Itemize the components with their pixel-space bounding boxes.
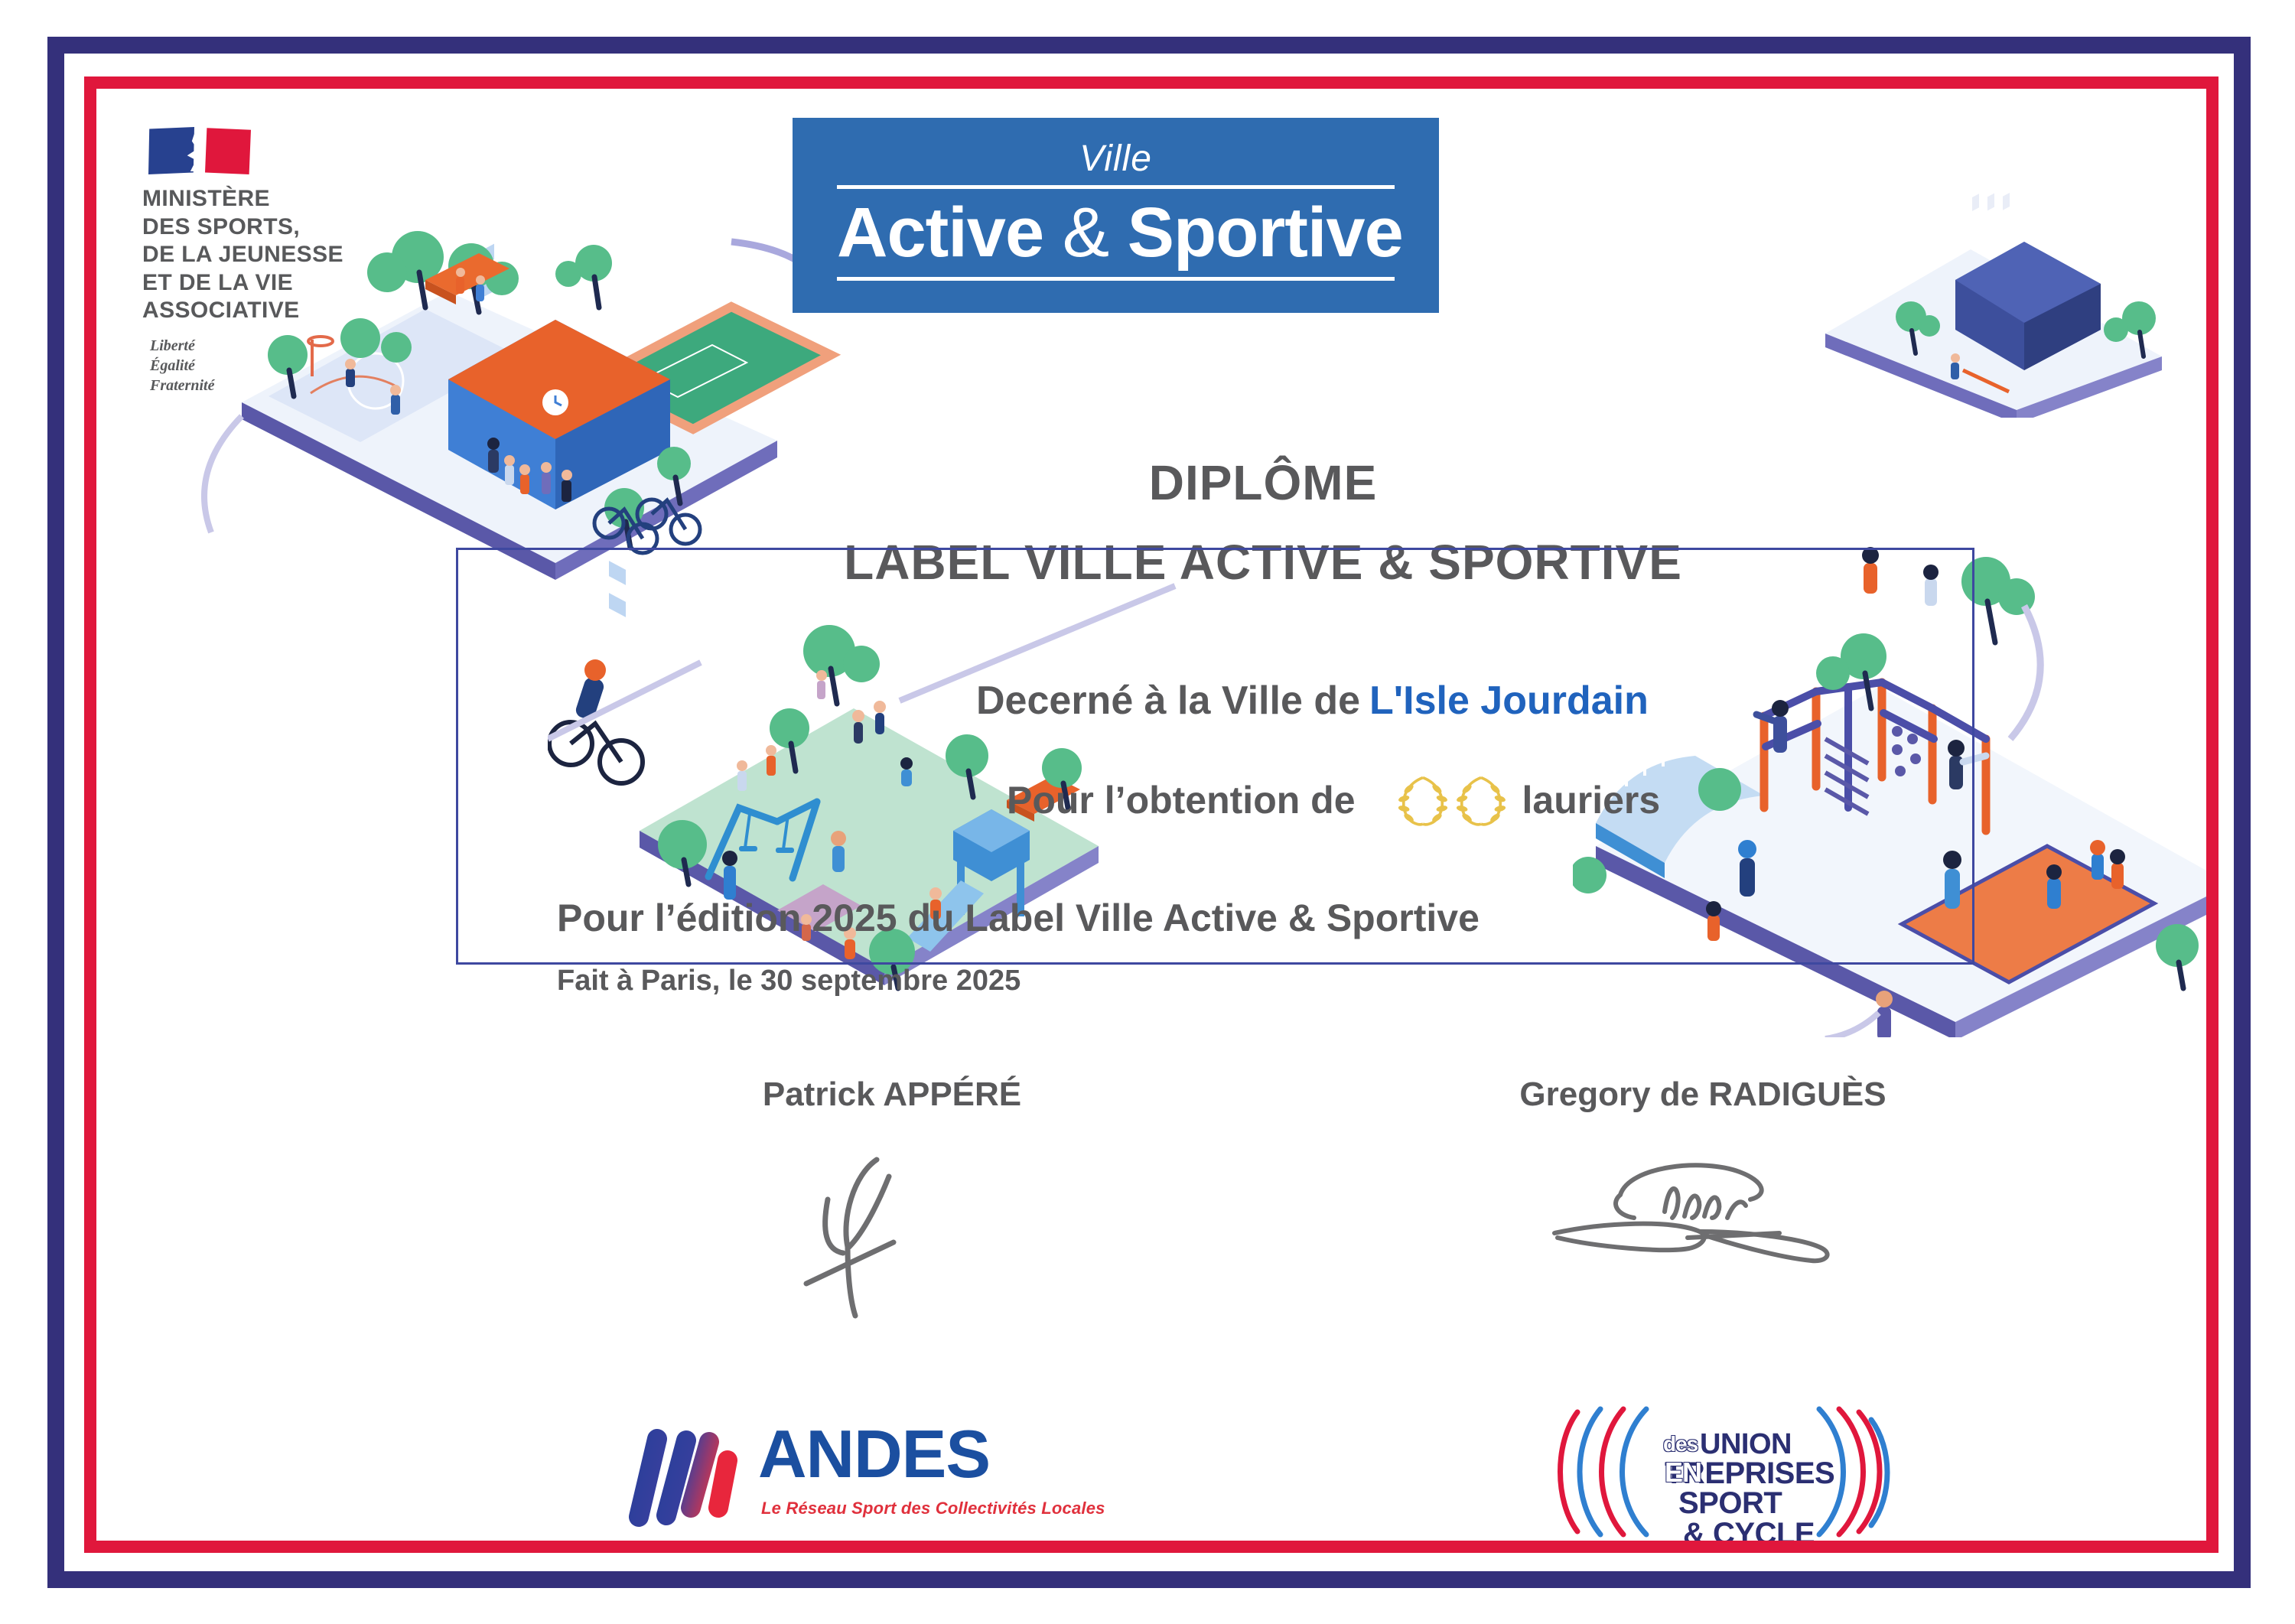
ministry-block: MINISTÈRE DES SPORTS, DE LA JEUNESSE ET …	[142, 127, 418, 395]
uesc-line-en: EN	[1665, 1456, 1701, 1489]
edition-line: Pour l’édition 2025 du Label Ville Activ…	[557, 896, 1480, 940]
laurels-line: Pour l’obtention de	[1007, 772, 1660, 828]
uesc-line-cycle: & CYCLE	[1665, 1519, 1834, 1541]
logo-rule-bottom	[837, 277, 1395, 281]
logo-ampersand: &	[1063, 194, 1108, 272]
laurel-wreath-icon	[1446, 772, 1516, 828]
marianne-icon	[148, 127, 254, 174]
certificate-page: MINISTÈRE DES SPORTS, DE LA JEUNESSE ET …	[0, 0, 2295, 1624]
ministry-name: MINISTÈRE DES SPORTS, DE LA JEUNESSE ET …	[142, 185, 418, 325]
andes-logo: ANDES Le Réseau Sport des Collectivités …	[605, 1416, 1041, 1538]
laurel-wreath-group	[1388, 772, 1504, 828]
union-sport-cycle-logo: UNION TREPRISES SPORT & CYCLE des EN	[1550, 1389, 1909, 1541]
signature-block-left: Patrick APPÉRÉ	[617, 1076, 1167, 1343]
logo-word-ville: Ville	[837, 141, 1395, 185]
certificate-content: MINISTÈRE DES SPORTS, DE LA JEUNESSE ET …	[96, 89, 2206, 1541]
uesc-line-sport: SPORT	[1665, 1489, 1834, 1518]
signatory-name: Gregory de RADIGUÈS	[1382, 1076, 2024, 1114]
city-name: L'Isle Jourdain	[1369, 679, 1649, 723]
signature-mark	[617, 1152, 1167, 1343]
logo-wordmark: Active & Sportive	[837, 189, 1395, 277]
ville-active-sportive-logo: Ville Active & Sportive	[793, 118, 1439, 313]
signature-mark	[1382, 1152, 2024, 1343]
page-title-diplome: DIPLÔME	[785, 454, 1741, 511]
illustration-town-hall	[1779, 165, 2206, 418]
logo-word-active: Active	[837, 194, 1043, 272]
laurels-prefix: Pour l’obtention de	[1007, 778, 1356, 822]
andes-wordmark: ANDES	[758, 1421, 990, 1488]
signatory-name: Patrick APPÉRÉ	[617, 1076, 1167, 1114]
logo-word-sportive: Sportive	[1128, 194, 1403, 272]
awarded-to-line: Decerné à la Ville deL'Isle Jourdain	[976, 678, 1649, 724]
awarded-to-prefix: Decerné à la Ville de	[976, 679, 1360, 723]
republic-motto: Liberté Égalité Fraternité	[150, 336, 418, 395]
signature-block-right: Gregory de RADIGUÈS	[1382, 1076, 2024, 1343]
place-date-line: Fait à Paris, le 30 septembre 2025	[557, 965, 1021, 998]
laurels-suffix: lauriers	[1522, 778, 1661, 822]
andes-tagline: Le Réseau Sport des Collectivités Locale…	[761, 1499, 1105, 1518]
andes-bars-icon	[605, 1424, 747, 1538]
uesc-line-des: des	[1663, 1432, 1698, 1456]
